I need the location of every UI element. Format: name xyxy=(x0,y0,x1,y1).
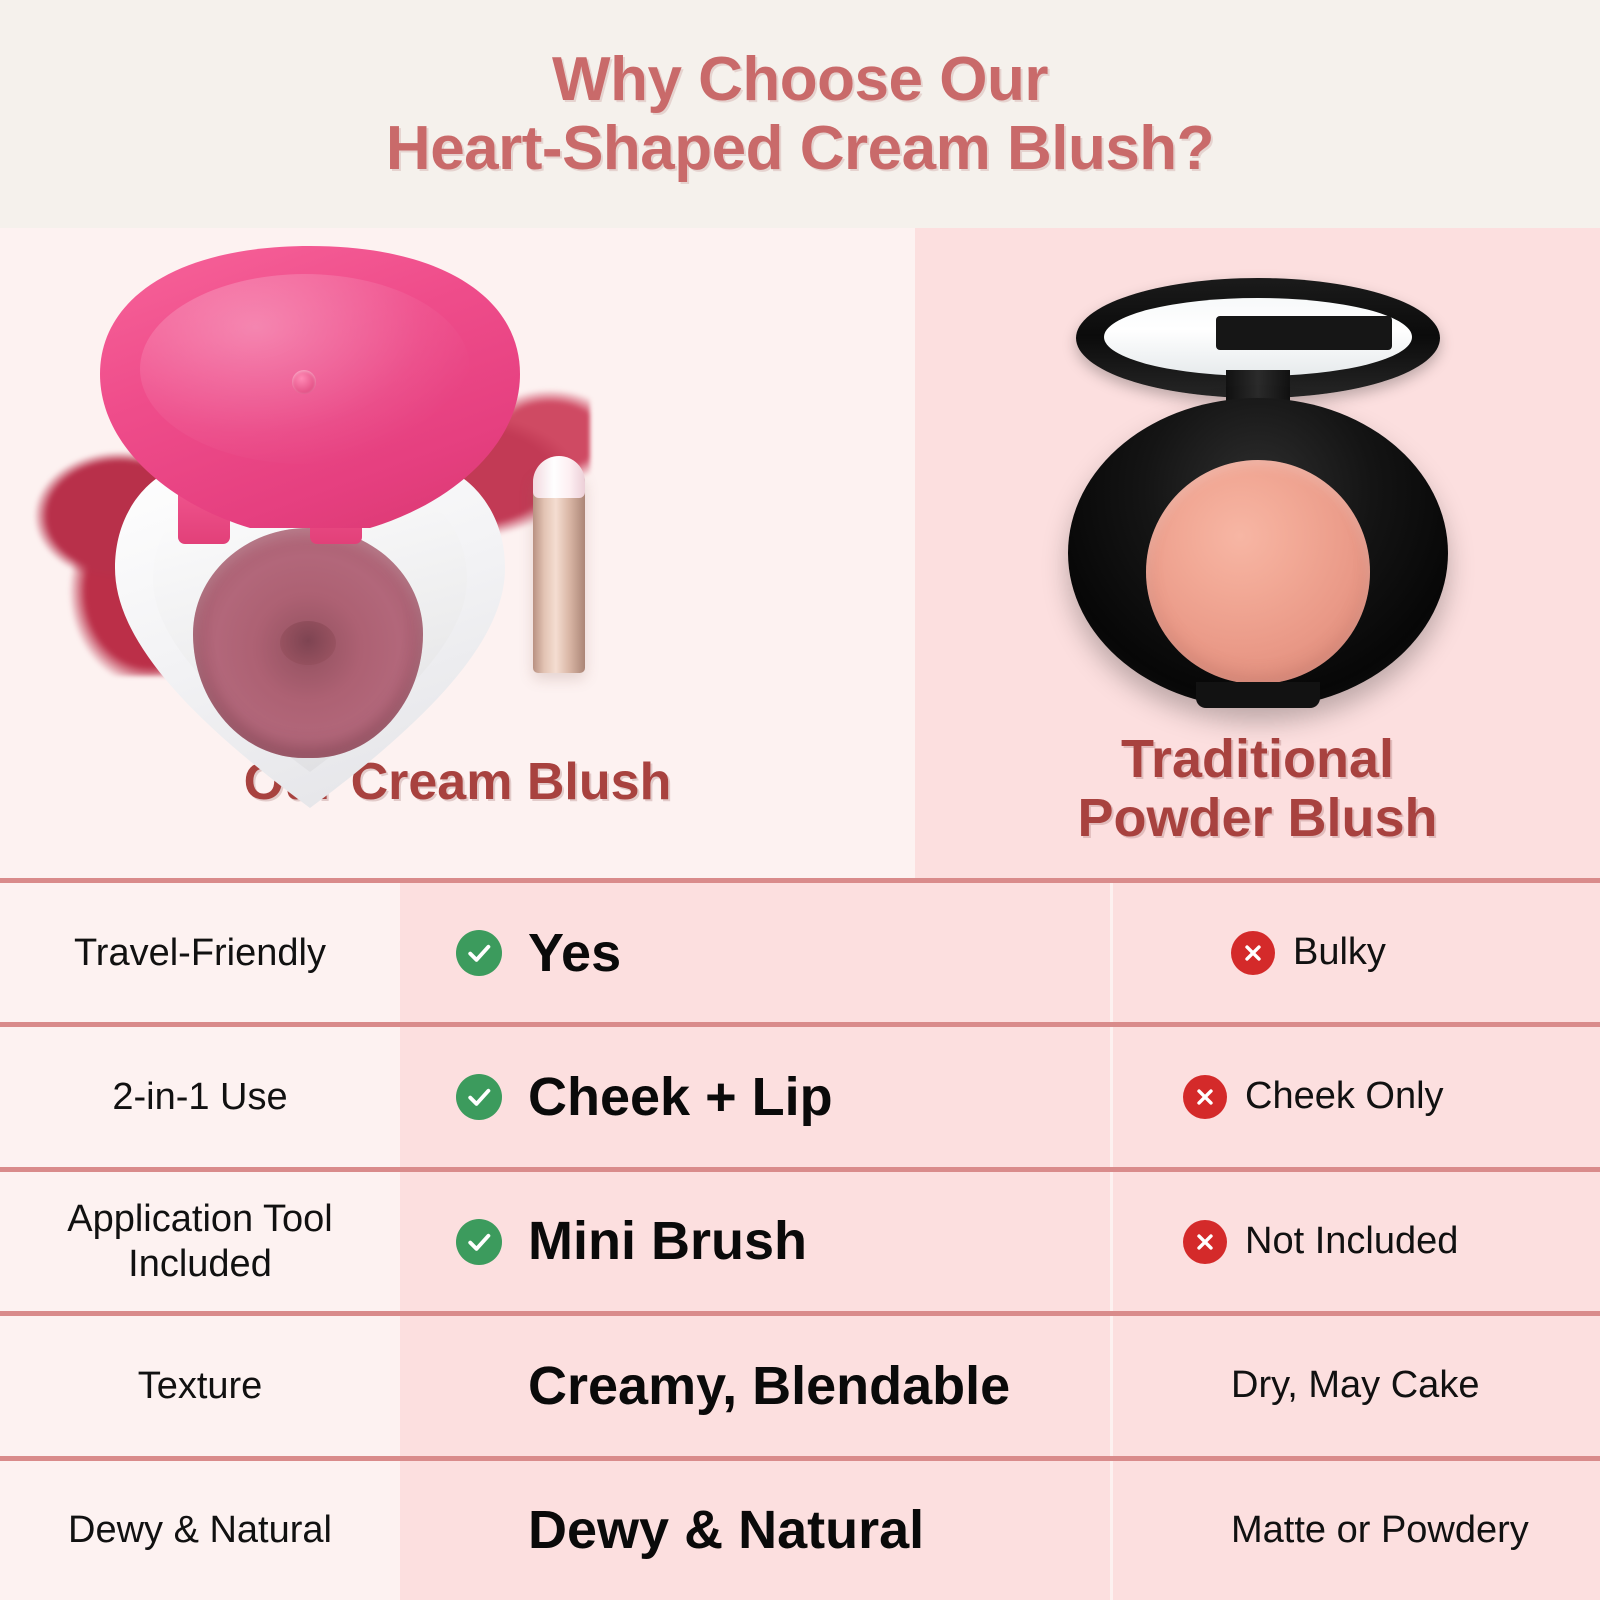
page-title-line-2: Heart-Shaped Cream Blush? xyxy=(386,114,1214,183)
ours-value: Yes xyxy=(528,924,621,982)
feature-label: Dewy & Natural xyxy=(68,1508,332,1552)
theirs-cell: Bulky xyxy=(1110,883,1600,1022)
table-row: Dewy & Natural Dewy & Natural Matte or P… xyxy=(0,1456,1600,1600)
hero-caption-theirs-line-2: Powder Blush xyxy=(1077,789,1437,848)
cream-blush-product-image xyxy=(0,228,915,748)
hero-column-theirs: Traditional Powder Blush xyxy=(915,228,1600,878)
table-row: Texture Creamy, Blendable Dry, May Cake xyxy=(0,1311,1600,1455)
product-hero: Our Cream Blush Traditional Powder Blush xyxy=(0,228,1600,878)
check-circle-icon xyxy=(456,1219,502,1265)
powder-compact xyxy=(1058,278,1458,708)
check-circle-icon xyxy=(456,930,502,976)
ours-value: Mini Brush xyxy=(528,1212,807,1270)
cross-circle-icon xyxy=(1231,931,1275,975)
feature-label: Application Tool Included xyxy=(14,1197,386,1285)
mini-brush-handle xyxy=(533,473,585,673)
theirs-cell: Not Included xyxy=(1110,1172,1600,1311)
compact-mirror-shadow xyxy=(1216,316,1392,350)
powder-blush-product-image xyxy=(915,228,1600,748)
ours-cell: Cheek + Lip xyxy=(400,1027,1110,1166)
cross-circle-icon xyxy=(1183,1220,1227,1264)
feature-cell: Application Tool Included xyxy=(0,1172,400,1311)
table-row: 2-in-1 Use Cheek + Lip Cheek Only xyxy=(0,1022,1600,1166)
ours-cell: Dewy & Natural xyxy=(400,1461,1110,1600)
theirs-value: Bulky xyxy=(1293,931,1386,974)
feature-label: 2-in-1 Use xyxy=(112,1075,287,1119)
powder-blush-pan xyxy=(1146,460,1370,684)
cream-blush-pan xyxy=(193,528,423,758)
lid-center-dot xyxy=(292,370,316,394)
cross-circle-icon xyxy=(1183,1075,1227,1119)
compact-clasp xyxy=(1196,682,1320,708)
theirs-value: Not Included xyxy=(1245,1220,1458,1263)
ours-value: Dewy & Natural xyxy=(528,1501,924,1559)
comparison-infographic: Why Choose Our Heart-Shaped Cream Blush?… xyxy=(0,0,1600,1600)
feature-cell: 2-in-1 Use xyxy=(0,1027,400,1166)
feature-label: Travel-Friendly xyxy=(74,931,326,975)
theirs-cell: Matte or Powdery xyxy=(1110,1461,1600,1600)
icon-placeholder xyxy=(456,1385,502,1386)
hero-column-ours: Our Cream Blush xyxy=(0,228,915,878)
feature-label: Texture xyxy=(138,1364,263,1408)
theirs-value: Matte or Powdery xyxy=(1231,1509,1529,1552)
comparison-table: Travel-Friendly Yes Bulky 2-in-1 Use xyxy=(0,878,1600,1600)
theirs-value: Dry, May Cake xyxy=(1231,1364,1479,1407)
ours-value: Creamy, Blendable xyxy=(528,1357,1010,1415)
feature-cell: Travel-Friendly xyxy=(0,883,400,1022)
theirs-value: Cheek Only xyxy=(1245,1075,1444,1118)
feature-cell: Dewy & Natural xyxy=(0,1461,400,1600)
table-row: Application Tool Included Mini Brush Not… xyxy=(0,1167,1600,1311)
lid-highlight xyxy=(140,274,470,464)
theirs-cell: Dry, May Cake xyxy=(1110,1316,1600,1455)
ours-cell: Creamy, Blendable xyxy=(400,1316,1110,1455)
icon-placeholder xyxy=(456,1530,502,1531)
ours-cell: Mini Brush xyxy=(400,1172,1110,1311)
ours-cell: Yes xyxy=(400,883,1110,1022)
theirs-cell: Cheek Only xyxy=(1110,1027,1600,1166)
check-circle-icon xyxy=(456,1074,502,1120)
page-header: Why Choose Our Heart-Shaped Cream Blush? xyxy=(0,0,1600,228)
ours-value: Cheek + Lip xyxy=(528,1068,833,1126)
page-title-line-1: Why Choose Our xyxy=(552,45,1048,114)
feature-cell: Texture xyxy=(0,1316,400,1455)
table-row: Travel-Friendly Yes Bulky xyxy=(0,878,1600,1022)
compact-mirror xyxy=(1104,298,1412,376)
